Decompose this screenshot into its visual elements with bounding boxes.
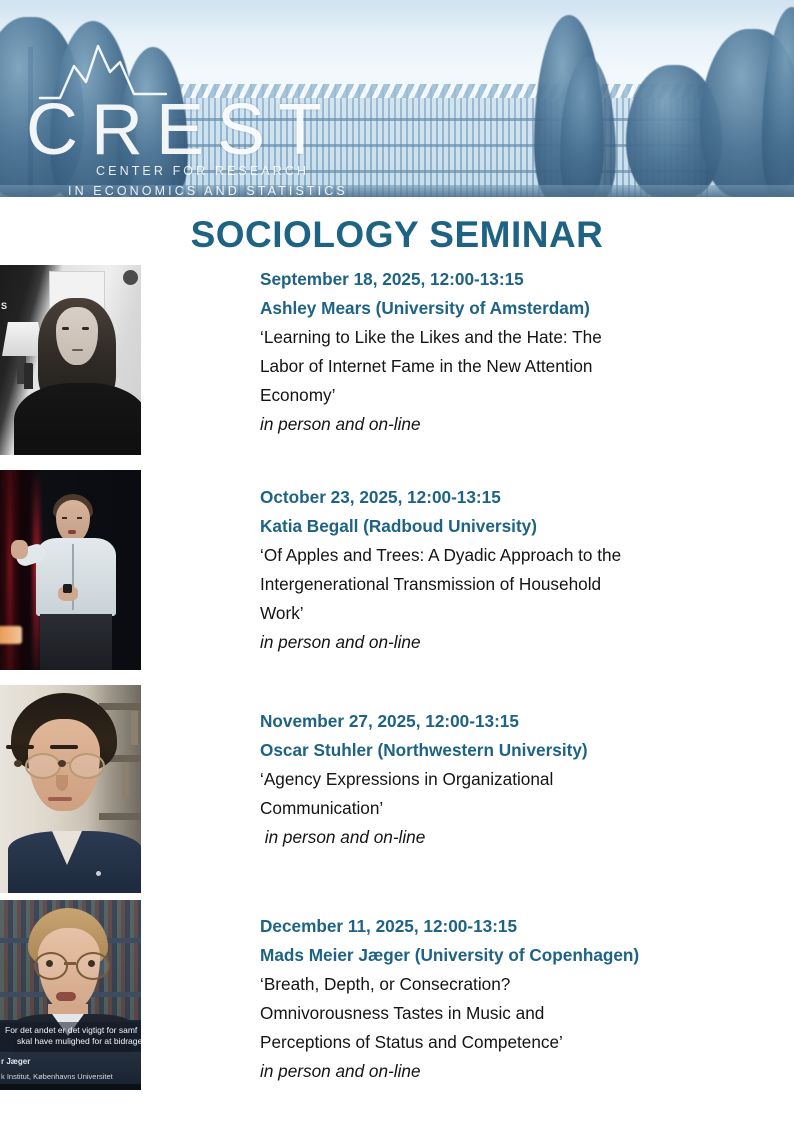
stage-desk-light	[0, 626, 22, 644]
person-trousers	[40, 614, 112, 670]
person-hand	[11, 540, 28, 559]
seminar-format: in person and on-line	[260, 410, 760, 439]
crest-banner-image: CREST CENTER FOR RESEARCH IN ECONOMICS A…	[0, 0, 794, 197]
speaker-photo	[0, 685, 141, 893]
video-subtitle: For det andet er det vigtigt for samf sk…	[0, 1022, 141, 1051]
book	[131, 711, 138, 745]
person-eye	[62, 327, 69, 330]
subtitle-line-2: skal have mulighed for at bidrage	[5, 1036, 141, 1047]
poster-text: S	[1, 301, 8, 311]
person-face	[56, 307, 98, 365]
person-eye	[62, 517, 67, 519]
seminar-entry: November 27, 2025, 12:00-13:15 Oscar Stu…	[0, 685, 794, 900]
seminar-date: October 23, 2025, 12:00-13:15	[260, 483, 760, 512]
background-object	[123, 270, 138, 285]
person-torso	[14, 383, 141, 455]
speaker-photo: S	[0, 265, 141, 455]
seminar-speaker: Ashley Mears (University of Amsterdam)	[260, 294, 760, 323]
seminar-date: September 18, 2025, 12:00-13:15	[260, 265, 760, 294]
seminar-title-line: Perceptions of Status and Competence’	[260, 1028, 760, 1057]
eyeglass-lens	[69, 753, 105, 779]
speaker-photo: For det andet er det vigtigt for samf sk…	[0, 900, 141, 1090]
person-mouth	[72, 349, 83, 351]
person-eye	[88, 960, 95, 967]
seminar-title-line: ‘Agency Expressions in Organizational	[260, 765, 760, 794]
eyeglasses	[34, 952, 106, 976]
seminar-speaker: Mads Meier Jæger (University of Copenhag…	[260, 941, 760, 970]
seminar-speaker: Oscar Stuhler (Northwestern University)	[260, 736, 760, 765]
seminar-title-line: Omnivorousness Tastes in Music and	[260, 999, 760, 1028]
person-eyebrow	[50, 745, 78, 749]
seminar-entry: For det andet er det vigtigt for samf sk…	[0, 900, 794, 1100]
seminar-title-line: Communication’	[260, 794, 760, 823]
seminar-format: in person and on-line	[260, 1057, 760, 1086]
person-eye	[46, 960, 53, 967]
lower-third-name: r Jæger	[1, 1057, 141, 1066]
page-title: SOCIOLOGY SEMINAR	[0, 214, 794, 256]
seminar-title-line: ‘Of Apples and Trees: A Dyadic Approach …	[260, 541, 760, 570]
bottle	[24, 363, 33, 389]
person-shirt	[36, 538, 116, 616]
eyeglass-bridge	[64, 962, 76, 965]
person-mouth	[48, 797, 72, 801]
seminar-date: December 11, 2025, 12:00-13:15	[260, 912, 760, 941]
seminar-title-line: Economy’	[260, 381, 760, 410]
video-bottom-bar	[0, 1084, 141, 1090]
seminar-title-line: ‘Learning to Like the Likes and the Hate…	[260, 323, 760, 352]
seminar-format: in person and on-line	[260, 823, 760, 852]
person-eye	[77, 517, 82, 519]
book	[122, 763, 129, 797]
subtitle-line-1: For det andet er det vigtigt for samf	[5, 1025, 137, 1035]
seminar-title-line: Intergenerational Transmission of Househ…	[260, 570, 760, 599]
seminar-details: October 23, 2025, 12:00-13:15 Katia Bega…	[260, 483, 760, 657]
seminar-entry: October 23, 2025, 12:00-13:15 Katia Bega…	[0, 470, 794, 685]
person-nose	[56, 775, 68, 791]
speaker-photo	[0, 470, 141, 670]
person-eye	[58, 760, 66, 767]
seminar-title-line: ‘Breath, Depth, or Consecration?	[260, 970, 760, 999]
person-mouth	[56, 992, 76, 1001]
seminar-date: November 27, 2025, 12:00-13:15	[260, 707, 760, 736]
person-mouth	[68, 530, 76, 534]
seminar-title-line: Work’	[260, 599, 760, 628]
building-roof	[172, 84, 712, 98]
person-face	[56, 500, 90, 542]
lower-third-affiliation: k Institut, Københavns Universitet	[1, 1072, 141, 1081]
presentation-clicker	[63, 584, 72, 593]
seminar-speaker: Katia Begall (Radboud University)	[260, 512, 760, 541]
seminar-details: September 18, 2025, 12:00-13:15 Ashley M…	[260, 265, 760, 439]
seminar-details: November 27, 2025, 12:00-13:15 Oscar Stu…	[260, 707, 760, 852]
seminar-format: in person and on-line	[260, 628, 760, 657]
person-eyebrow	[6, 745, 34, 749]
banner-ground	[0, 185, 794, 197]
seminar-details: December 11, 2025, 12:00-13:15 Mads Meie…	[260, 912, 760, 1086]
person-eye	[82, 327, 89, 330]
shirt-button	[96, 871, 101, 876]
bookshelf	[99, 813, 141, 820]
seminar-title-line: Labor of Internet Fame in the New Attent…	[260, 352, 760, 381]
person-eye	[14, 760, 22, 767]
seminar-entry: S September 18, 2025, 12:00-13:15 Ashley…	[0, 265, 794, 470]
bookshelf	[99, 703, 141, 710]
